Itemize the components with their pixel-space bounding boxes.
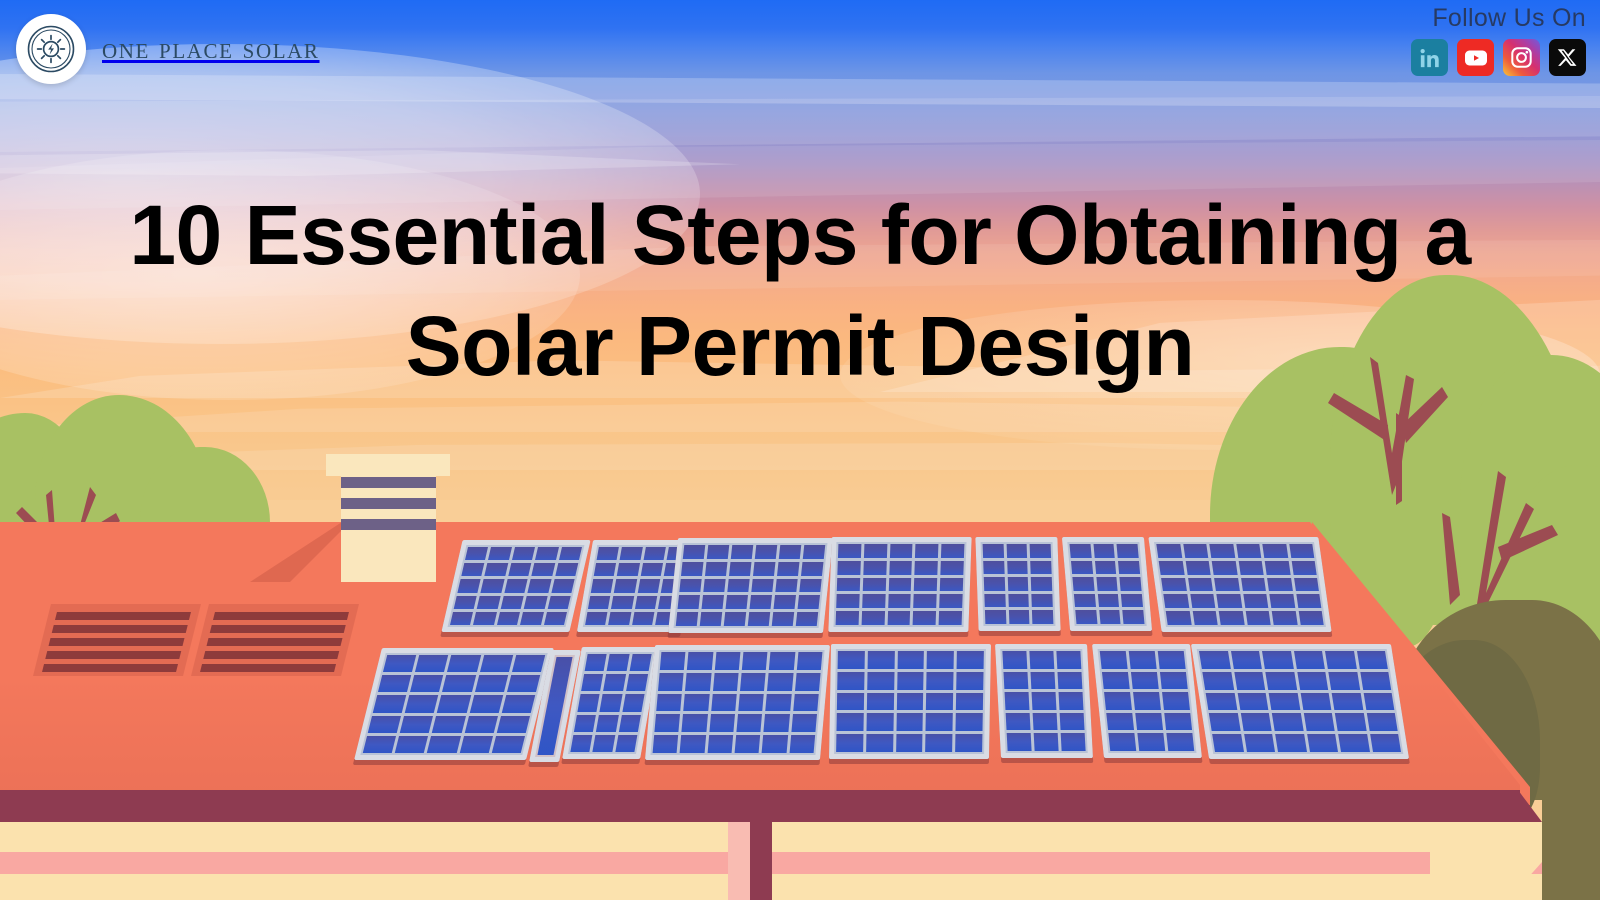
- panel-cell: [680, 735, 706, 753]
- panel-cell: [1190, 594, 1215, 608]
- panel-cell: [678, 595, 700, 609]
- panel-cell: [1131, 672, 1159, 690]
- panel-cell: [713, 673, 739, 691]
- panel-cell: [1269, 693, 1300, 711]
- panel-cell: [497, 612, 520, 625]
- panel-cell: [837, 672, 864, 690]
- panel-cell: [736, 714, 762, 732]
- panel-cell: [1212, 561, 1237, 575]
- panel-cell: [681, 562, 703, 576]
- panel-glass: [1000, 649, 1087, 753]
- panel-cell: [363, 736, 396, 753]
- panel-cell: [1328, 672, 1359, 690]
- wall-column-stripe: [728, 822, 750, 900]
- panel-cell: [581, 674, 603, 691]
- panel-glass: [650, 650, 824, 755]
- panel-cell: [1006, 713, 1031, 731]
- panel-cell: [450, 612, 473, 625]
- panel-cell: [588, 596, 611, 609]
- panel-cell: [1209, 713, 1240, 731]
- panel-cell: [570, 735, 592, 752]
- panel-cell: [611, 596, 634, 609]
- panel-cell: [1166, 611, 1191, 625]
- panel-cell: [1231, 651, 1262, 669]
- panel-cell: [1029, 651, 1054, 669]
- panel-cell: [594, 563, 617, 576]
- panel-cell: [622, 694, 644, 711]
- hero-banner: 10 Essential Steps for Obtaining a Solar…: [0, 0, 1600, 900]
- panel-cell: [1291, 561, 1316, 575]
- panel-cell: [504, 579, 527, 592]
- panel-cell: [956, 713, 983, 731]
- panel-cell: [1214, 578, 1239, 592]
- youtube-icon[interactable]: [1457, 39, 1494, 76]
- panel-cell: [1307, 734, 1338, 752]
- panel-cell: [400, 716, 433, 733]
- panel-cell: [531, 563, 554, 576]
- panel-cell: [1294, 651, 1325, 669]
- panel-cell: [1294, 578, 1319, 592]
- panel-cell: [1003, 672, 1028, 690]
- panel-cell: [729, 562, 751, 576]
- panel-cell: [620, 547, 643, 560]
- panel-cell: [1099, 610, 1121, 624]
- panel-cell: [1188, 578, 1213, 592]
- linkedin-icon[interactable]: [1411, 39, 1448, 76]
- panel-cell: [775, 579, 797, 593]
- panel-cell: [1269, 594, 1294, 608]
- panel-cell: [742, 652, 768, 670]
- panel-cell: [1216, 594, 1241, 608]
- panel-cell: [1360, 672, 1391, 690]
- panel-cell: [751, 579, 773, 593]
- panel-cell: [1120, 577, 1142, 591]
- panel-cell: [748, 612, 770, 626]
- panel-cell: [544, 612, 567, 625]
- panel-cell: [1265, 561, 1290, 575]
- panel-cell: [866, 734, 893, 752]
- panel-cell: [607, 654, 629, 671]
- panel-cell: [600, 694, 622, 711]
- panel-cell: [497, 716, 530, 733]
- solar-panel: [828, 537, 971, 632]
- panel-cell: [777, 562, 799, 576]
- panel-cell: [983, 561, 1004, 575]
- panel-cell: [836, 713, 863, 731]
- wall-accent-stripe: [0, 852, 1600, 874]
- chimney-cap: [326, 454, 450, 476]
- panel-glass: [834, 649, 986, 754]
- panel-cell: [926, 693, 953, 711]
- panel-cell: [779, 545, 801, 559]
- panel-cell: [626, 674, 648, 691]
- panel-glass: [360, 653, 547, 755]
- panel-cell: [427, 736, 460, 753]
- panel-cell: [984, 577, 1005, 591]
- solar-panel: [829, 644, 991, 759]
- panel-cell: [941, 561, 964, 575]
- panel-cell: [837, 561, 860, 575]
- panel-cell: [888, 594, 911, 608]
- panel-cell: [454, 596, 477, 609]
- panel-cell: [774, 595, 796, 609]
- panel-cell: [1031, 561, 1052, 575]
- panel-cell: [926, 734, 953, 752]
- panel-cell: [726, 595, 748, 609]
- panel-cell: [1209, 544, 1234, 558]
- panel-cell: [836, 594, 859, 608]
- panel-cell: [591, 579, 614, 592]
- panel-cell: [867, 672, 894, 690]
- panel-cell: [1030, 544, 1051, 558]
- panel-cell: [1162, 692, 1190, 710]
- panel-glass: [834, 542, 967, 627]
- panel-cell: [481, 579, 504, 592]
- panel-cell: [1267, 578, 1292, 592]
- social-section: Follow Us On: [1411, 6, 1586, 76]
- panel-cell: [1106, 713, 1134, 731]
- panel-cell: [676, 612, 698, 626]
- panel-cell: [1060, 713, 1085, 731]
- brand-name: One Place Solar: [102, 32, 320, 66]
- panel-cell: [555, 563, 578, 576]
- panel-cell: [772, 612, 794, 626]
- panel-cell: [862, 594, 885, 608]
- panel-cell: [1166, 733, 1194, 751]
- panel-cell: [378, 675, 411, 692]
- panel-cell: [735, 735, 761, 753]
- panel-cell: [1183, 544, 1208, 558]
- panel-cell: [796, 612, 818, 626]
- panel-cell: [1034, 733, 1059, 751]
- panel-cell: [1241, 578, 1266, 592]
- panel-cell: [727, 579, 749, 593]
- solar-panel: [668, 538, 833, 633]
- panel-cell: [1219, 611, 1244, 625]
- panel-cell: [889, 561, 912, 575]
- panel-cell: [915, 544, 938, 558]
- panel-cell: [915, 561, 938, 575]
- panel-cell: [1102, 672, 1130, 690]
- panel-cell: [764, 714, 790, 732]
- panel-cell: [1137, 733, 1165, 751]
- panel-cell: [707, 545, 729, 559]
- panel-cell: [702, 595, 724, 609]
- panel-cell: [1272, 611, 1297, 625]
- panel-cell: [679, 579, 701, 593]
- panel-cell: [658, 673, 684, 691]
- panel-cell: [1275, 734, 1306, 752]
- panel-cell: [1262, 651, 1293, 669]
- panel-cell: [789, 735, 815, 753]
- solar-panel: [1148, 537, 1331, 632]
- panel-cell: [508, 563, 531, 576]
- panel-cell: [711, 694, 737, 712]
- panel-cell: [941, 544, 964, 558]
- panel-cell: [684, 694, 710, 712]
- panel-cell: [838, 651, 865, 669]
- panel-cell: [724, 612, 746, 626]
- panel-cell: [927, 651, 954, 669]
- panel-cell: [1289, 544, 1314, 558]
- panel-cell: [1093, 544, 1115, 558]
- panel-cell: [838, 544, 861, 558]
- panel-cell: [442, 675, 475, 692]
- panel-cell: [985, 610, 1006, 624]
- panel-cell: [405, 695, 438, 712]
- panel-cell: [801, 562, 823, 576]
- panel-cell: [507, 675, 540, 692]
- panel-cell: [888, 578, 911, 592]
- panel-cell: [1296, 594, 1321, 608]
- panel-cell: [837, 578, 860, 592]
- panel-cell: [687, 652, 713, 670]
- panel-cell: [1237, 693, 1268, 711]
- panel-cell: [464, 716, 497, 733]
- page-title-line-1: 10 Essential Steps for Obtaining a: [129, 188, 1470, 282]
- panel-cell: [1202, 672, 1233, 690]
- panel-cell: [637, 579, 660, 592]
- page-title-line-2: Solar Permit Design: [0, 291, 1600, 402]
- panel-cell: [492, 736, 525, 753]
- panel-cell: [485, 563, 508, 576]
- roof-fascia: [0, 790, 1520, 822]
- panel-cell: [1007, 577, 1028, 591]
- panel-cell: [926, 713, 953, 731]
- panel-cell: [798, 595, 820, 609]
- panel-cell: [654, 714, 680, 732]
- solar-panel-array: [0, 500, 1600, 830]
- panel-cell: [1118, 561, 1140, 575]
- panel-cell: [863, 578, 886, 592]
- panel-cell: [1206, 693, 1237, 711]
- panel-cell: [368, 716, 401, 733]
- panel-cell: [1159, 561, 1184, 575]
- panel-cell: [653, 735, 679, 753]
- panel-cell: [1363, 693, 1394, 711]
- solar-panel: [1092, 644, 1202, 758]
- panel-cell: [1074, 594, 1096, 608]
- panel-cell: [1332, 693, 1363, 711]
- panel-cell: [410, 675, 443, 692]
- panel-cell: [415, 655, 448, 672]
- panel-cell: [457, 579, 480, 592]
- panel-cell: [596, 715, 618, 732]
- panel-cell: [1236, 544, 1261, 558]
- panel-cell: [1117, 544, 1139, 558]
- panel-cell: [1071, 561, 1093, 575]
- right-dark-foliage: [1542, 770, 1600, 900]
- chimney-band-1: [341, 477, 436, 488]
- panel-cell: [1135, 713, 1163, 731]
- panel-cell: [373, 695, 406, 712]
- panel-cell: [1357, 651, 1388, 669]
- panel-cell: [1098, 594, 1120, 608]
- panel-cell: [1262, 544, 1287, 558]
- panel-cell: [1030, 672, 1055, 690]
- panel-cell: [740, 673, 766, 691]
- panel-cell: [1272, 713, 1303, 731]
- solar-panel: [975, 537, 1060, 631]
- panel-cell: [866, 713, 893, 731]
- panel-glass: [1154, 542, 1326, 627]
- panel-cell: [1265, 672, 1296, 690]
- panel-cell: [685, 673, 711, 691]
- x-twitter-icon[interactable]: [1549, 39, 1586, 76]
- panel-cell: [837, 693, 864, 711]
- solar-panel: [1191, 644, 1409, 759]
- panel-cell: [705, 562, 727, 576]
- panel-cell: [896, 693, 923, 711]
- panel-cell: [1303, 713, 1334, 731]
- panel-cell: [469, 695, 502, 712]
- panel-cell: [836, 611, 859, 625]
- panel-cell: [864, 544, 887, 558]
- panel-cell: [603, 674, 625, 691]
- panel-cell: [1031, 577, 1052, 591]
- panel-cell: [597, 547, 620, 560]
- panel-cell: [707, 735, 733, 753]
- panel-cell: [1244, 734, 1275, 752]
- panel-cell: [1212, 734, 1243, 752]
- brand-logo-link[interactable]: One Place Solar: [16, 14, 320, 84]
- panel-cell: [890, 544, 913, 558]
- panel-cell: [767, 673, 793, 691]
- panel-cell: [1298, 611, 1323, 625]
- panel-cell: [939, 594, 962, 608]
- panel-cell: [501, 596, 524, 609]
- panel-cell: [643, 547, 666, 560]
- panel-glass: [674, 543, 828, 628]
- solar-panel: [441, 540, 590, 632]
- panel-cell: [619, 715, 641, 732]
- panel-cell: [897, 651, 924, 669]
- panel-cell: [750, 595, 772, 609]
- panel-cell: [1161, 578, 1186, 592]
- panel-cell: [447, 655, 480, 672]
- panel-cell: [914, 578, 937, 592]
- panel-cell: [551, 579, 574, 592]
- panel-cell: [1338, 734, 1369, 752]
- panel-cell: [480, 655, 513, 672]
- panel-cell: [1123, 610, 1145, 624]
- panel-cell: [766, 694, 792, 712]
- panel-cell: [836, 734, 863, 752]
- panel-cell: [656, 694, 682, 712]
- panel-cell: [1008, 594, 1029, 608]
- panel-cell: [682, 714, 708, 732]
- panel-cell: [795, 673, 821, 691]
- panel-cell: [1100, 651, 1128, 669]
- solar-panel: [995, 644, 1093, 758]
- panel-cell: [738, 694, 764, 712]
- panel-cell: [614, 579, 637, 592]
- panel-cell: [731, 545, 753, 559]
- instagram-icon[interactable]: [1503, 39, 1540, 76]
- panel-cell: [1234, 672, 1265, 690]
- panel-cell: [793, 694, 819, 712]
- panel-cell: [913, 611, 936, 625]
- panel-cell: [1366, 713, 1397, 731]
- panel-cell: [1370, 734, 1401, 752]
- panel-cell: [803, 545, 825, 559]
- panel-cell: [535, 547, 558, 560]
- panel-cell: [629, 654, 651, 671]
- panel-cell: [1158, 651, 1186, 669]
- panel-cell: [984, 594, 1005, 608]
- panel-cell: [1061, 733, 1086, 751]
- panel-cell: [528, 579, 551, 592]
- panel-cell: [474, 675, 507, 692]
- panel-cell: [709, 714, 735, 732]
- panel-cell: [1240, 713, 1271, 731]
- panel-cell: [700, 612, 722, 626]
- panel-cell: [867, 693, 894, 711]
- panel-glass: [981, 542, 1056, 626]
- solar-panel: [354, 648, 554, 760]
- panel-cell: [1032, 610, 1053, 624]
- panel-cell: [956, 693, 983, 711]
- panel-cell: [896, 713, 923, 731]
- panel-cell: [797, 652, 823, 670]
- panel-cell: [395, 736, 428, 753]
- panel-cell: [1095, 561, 1117, 575]
- panel-cell: [574, 715, 596, 732]
- panel-cell: [512, 547, 535, 560]
- panel-cell: [585, 654, 607, 671]
- panel-cell: [896, 734, 923, 752]
- panel-cell: [863, 561, 886, 575]
- panel-cell: [473, 612, 496, 625]
- panel-cell: [956, 672, 983, 690]
- wall-column: [750, 822, 772, 900]
- panel-glass: [1197, 649, 1404, 754]
- follow-us-label: Follow Us On: [1411, 6, 1586, 31]
- panel-cell: [660, 652, 686, 670]
- panel-cell: [867, 651, 894, 669]
- panel-cell: [1072, 577, 1094, 591]
- panel-cell: [437, 695, 470, 712]
- panel-cell: [559, 547, 582, 560]
- panel-cell: [914, 594, 937, 608]
- panel-cell: [512, 655, 545, 672]
- panel-cell: [634, 596, 657, 609]
- panel-cell: [1245, 611, 1270, 625]
- solar-panel: [645, 645, 830, 760]
- panel-cell: [1325, 651, 1356, 669]
- panel-cell: [477, 596, 500, 609]
- panel-cell: [465, 547, 488, 560]
- panel-cell: [755, 545, 777, 559]
- panel-cell: [1199, 651, 1230, 669]
- panel-cell: [753, 562, 775, 576]
- sun-bolt-icon: [16, 14, 86, 84]
- panel-cell: [632, 612, 655, 625]
- panel-cell: [939, 611, 962, 625]
- panel-cell: [547, 596, 570, 609]
- panel-cell: [887, 611, 910, 625]
- panel-cell: [927, 672, 954, 690]
- panel-cell: [524, 596, 547, 609]
- panel-cell: [1163, 594, 1188, 608]
- panel-cell: [1164, 713, 1192, 731]
- panel-cell: [383, 655, 416, 672]
- panel-cell: [585, 612, 608, 625]
- panel-cell: [488, 547, 511, 560]
- panel-cell: [1075, 610, 1097, 624]
- panel-cell: [1057, 672, 1082, 690]
- panel-glass: [568, 652, 654, 754]
